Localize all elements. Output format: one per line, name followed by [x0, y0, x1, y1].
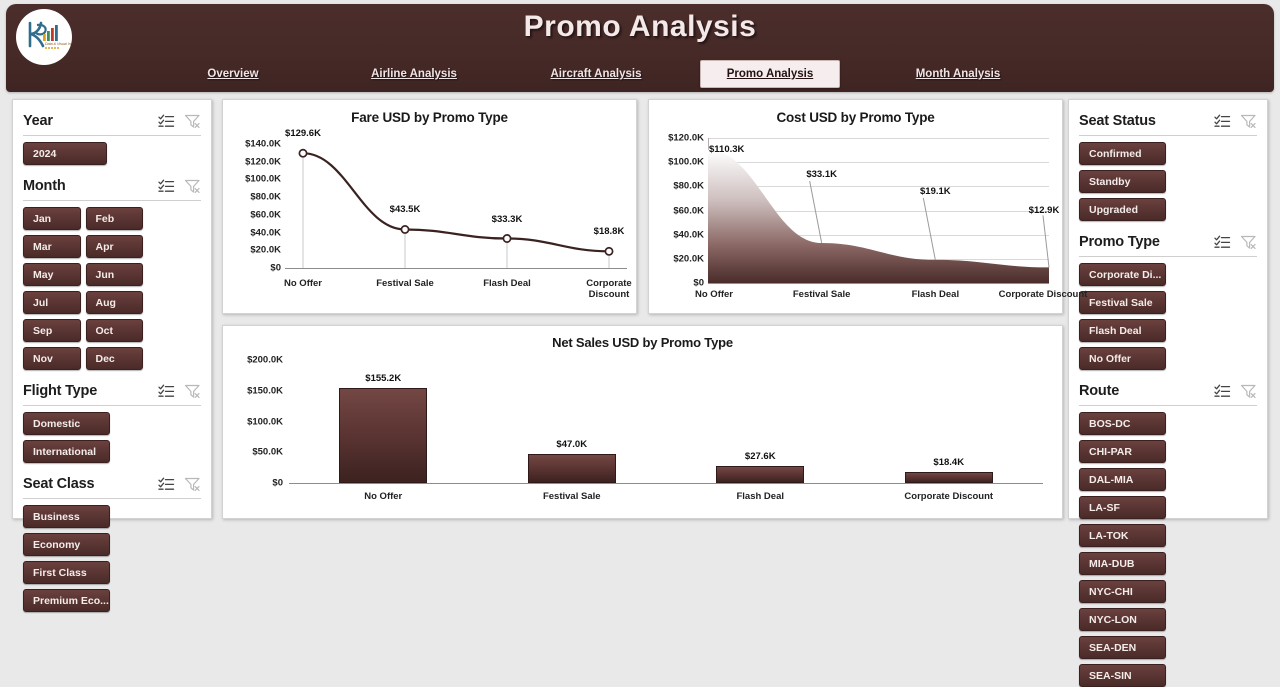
- slicer-icons-promo-type: [1214, 235, 1257, 250]
- x-axis-tick-label: Corporate Discount: [570, 278, 648, 300]
- filter-chip-nov[interactable]: Nov: [23, 347, 81, 370]
- multi-select-icon[interactable]: [158, 384, 175, 399]
- filter-chip-oct[interactable]: Oct: [86, 319, 144, 342]
- slicer-flight-type: Flight Type DomesticInternational: [23, 378, 201, 463]
- data-label: $47.0K: [522, 439, 622, 450]
- slicer-divider: [1079, 405, 1257, 406]
- slicer-icons-year: [158, 114, 201, 129]
- app-header: Data & Visual Insights Promo Analysis Ov…: [6, 4, 1274, 92]
- clear-filter-icon[interactable]: [184, 384, 201, 399]
- x-axis-tick-label: Festival Sale: [366, 278, 444, 289]
- filter-chip-first-class[interactable]: First Class: [23, 561, 110, 584]
- slicer-divider: [23, 200, 201, 201]
- filter-chip-jul[interactable]: Jul: [23, 291, 81, 314]
- clear-filter-icon[interactable]: [184, 179, 201, 194]
- y-axis-tick-label: $150.0K: [247, 385, 283, 396]
- tab-promo-analysis[interactable]: Promo Analysis: [700, 60, 840, 88]
- x-axis-tick-label: No Offer: [264, 278, 342, 289]
- filter-chip-premium-eco[interactable]: Premium Eco...: [23, 589, 110, 612]
- y-axis-tick-label: $0: [272, 478, 283, 489]
- data-label: $43.5K: [371, 204, 439, 215]
- multi-select-icon[interactable]: [158, 477, 175, 492]
- slicer-title-seat-class: Seat Class: [23, 476, 158, 492]
- filter-chip-economy[interactable]: Economy: [23, 533, 110, 556]
- filter-chip-nyc-lon[interactable]: NYC-LON: [1079, 608, 1166, 631]
- tab-overview[interactable]: Overview: [184, 60, 282, 88]
- x-axis-tick-label: Festival Sale: [502, 491, 642, 502]
- filter-chip-chi-par[interactable]: CHI-PAR: [1079, 440, 1166, 463]
- left-filter-panel: Year 2024Month JanFebMarAprMayJunJulAugS…: [12, 99, 212, 519]
- right-filter-panel: Seat Status ConfirmedStandbyUpgradedProm…: [1068, 99, 1268, 519]
- clear-filter-icon[interactable]: [1240, 114, 1257, 129]
- data-label: $18.8K: [575, 226, 643, 237]
- filter-chip-standby[interactable]: Standby: [1079, 170, 1166, 193]
- slicer-title-month: Month: [23, 178, 158, 194]
- slicer-title-seat-status: Seat Status: [1079, 113, 1214, 129]
- clear-filter-icon[interactable]: [184, 477, 201, 492]
- fare-usd-chart-card: Fare USD by Promo Type $0$20.0K$40.0K$60…: [222, 99, 637, 314]
- slicer-icons-seat-class: [158, 477, 201, 492]
- filter-chip-mar[interactable]: Mar: [23, 235, 81, 258]
- filter-chip-nyc-chi[interactable]: NYC-CHI: [1079, 580, 1166, 603]
- slicer-header-seat-status: Seat Status: [1079, 108, 1257, 134]
- slicer-header-route: Route: [1079, 378, 1257, 404]
- tab-aircraft-analysis[interactable]: Aircraft Analysis: [528, 60, 664, 88]
- x-axis-tick-label: Flash Deal: [468, 278, 546, 289]
- slicer-divider: [23, 135, 201, 136]
- slicer-options-seat-status: ConfirmedStandbyUpgraded: [1079, 142, 1257, 221]
- data-label: $155.2K: [333, 373, 433, 384]
- bar-corporate-discount: [905, 472, 993, 483]
- slicer-title-promo-type: Promo Type: [1079, 234, 1214, 250]
- slicer-options-seat-class: BusinessEconomyFirst ClassPremium Eco...: [23, 505, 201, 612]
- data-label: $33.3K: [473, 214, 541, 225]
- data-label: $19.1K: [888, 186, 982, 197]
- slicer-title-year: Year: [23, 113, 158, 129]
- slicer-month: Month JanFebMarAprMayJunJulAugSepOctNovD…: [23, 173, 201, 370]
- filter-chip-feb[interactable]: Feb: [86, 207, 144, 230]
- y-axis-tick-label: $100.0K: [247, 416, 283, 427]
- clear-filter-icon[interactable]: [1240, 384, 1257, 399]
- slicer-divider: [23, 498, 201, 499]
- bar-no-offer: [339, 388, 427, 483]
- bar-flash-deal: [716, 466, 804, 483]
- multi-select-icon[interactable]: [158, 114, 175, 129]
- filter-chip-flash-deal[interactable]: Flash Deal: [1079, 319, 1166, 342]
- x-axis-tick-label: Corporate Discount: [991, 289, 1095, 300]
- slicer-icons-route: [1214, 384, 1257, 399]
- filter-chip-sep[interactable]: Sep: [23, 319, 81, 342]
- slicer-options-promo-type: Corporate Di...Festival SaleFlash DealNo…: [1079, 263, 1257, 370]
- filter-chip-upgraded[interactable]: Upgraded: [1079, 198, 1166, 221]
- cost-usd-chart-card: Cost USD by Promo Type $0$20.0K$40.0K$60…: [648, 99, 1063, 314]
- slicer-header-year: Year: [23, 108, 201, 134]
- data-label: $33.1K: [775, 169, 869, 180]
- x-axis-tick-label: No Offer: [662, 289, 766, 300]
- y-axis-tick-label: $50.0K: [252, 447, 283, 458]
- main-navigation: Overview Airline Analysis Aircraft Analy…: [6, 60, 1274, 90]
- filter-chip-dal-mia[interactable]: DAL-MIA: [1079, 468, 1166, 491]
- filter-chip-la-sf[interactable]: LA-SF: [1079, 496, 1166, 519]
- filter-chip-no-offer[interactable]: No Offer: [1079, 347, 1166, 370]
- filter-chip-aug[interactable]: Aug: [86, 291, 144, 314]
- slicer-promo-type: Promo Type Corporate Di...Festival SaleF…: [1079, 229, 1257, 370]
- slicer-title-route: Route: [1079, 383, 1214, 399]
- tab-month-analysis[interactable]: Month Analysis: [890, 60, 1026, 88]
- filter-chip-sea-den[interactable]: SEA-DEN: [1079, 636, 1166, 659]
- clear-filter-icon[interactable]: [1240, 235, 1257, 250]
- x-axis-tick-label: Corporate Discount: [879, 491, 1019, 502]
- filter-chip-bos-dc[interactable]: BOS-DC: [1079, 412, 1166, 435]
- filter-chip-confirmed[interactable]: Confirmed: [1079, 142, 1166, 165]
- filter-chip-2024[interactable]: 2024: [23, 142, 107, 165]
- slicer-title-flight-type: Flight Type: [23, 383, 158, 399]
- slicer-header-month: Month: [23, 173, 201, 199]
- x-axis-tick-label: Flash Deal: [883, 289, 987, 300]
- x-axis-tick-label: Flash Deal: [690, 491, 830, 502]
- page-title: Promo Analysis: [6, 10, 1274, 44]
- slicer-options-year: 2024: [23, 142, 201, 165]
- data-label: $110.3K: [709, 144, 803, 155]
- filter-chip-apr[interactable]: Apr: [86, 235, 144, 258]
- data-label: $18.4K: [899, 457, 999, 468]
- filter-chip-corporate-di[interactable]: Corporate Di...: [1079, 263, 1166, 286]
- filter-chip-business[interactable]: Business: [23, 505, 110, 528]
- filter-chip-jun[interactable]: Jun: [86, 263, 144, 286]
- filter-chip-dec[interactable]: Dec: [86, 347, 144, 370]
- filter-chip-domestic[interactable]: Domestic: [23, 412, 110, 435]
- tab-airline-analysis[interactable]: Airline Analysis: [346, 60, 482, 88]
- y-axis-tick-label: $200.0K: [247, 355, 283, 366]
- multi-select-icon[interactable]: [1214, 235, 1231, 250]
- slicer-year: Year 2024: [23, 108, 201, 165]
- data-label: $27.6K: [710, 451, 810, 462]
- data-label: $12.9K: [997, 205, 1091, 216]
- slicer-divider: [1079, 135, 1257, 136]
- slicer-divider: [23, 405, 201, 406]
- filter-chip-la-tok[interactable]: LA-TOK: [1079, 524, 1166, 547]
- slicer-divider: [1079, 256, 1257, 257]
- multi-select-icon[interactable]: [1214, 384, 1231, 399]
- net-sales-chart-card: Net Sales USD by Promo Type $0$50.0K$100…: [222, 325, 1063, 519]
- slicer-icons-month: [158, 179, 201, 194]
- slicer-seat-class: Seat Class BusinessEconomyFirst ClassPre…: [23, 471, 201, 612]
- bar-festival-sale: [528, 454, 616, 483]
- slicer-header-flight-type: Flight Type: [23, 378, 201, 404]
- filter-chip-jan[interactable]: Jan: [23, 207, 81, 230]
- multi-select-icon[interactable]: [1214, 114, 1231, 129]
- x-axis-line: [289, 483, 1043, 484]
- multi-select-icon[interactable]: [158, 179, 175, 194]
- slicer-header-seat-class: Seat Class: [23, 471, 201, 497]
- data-label: $129.6K: [269, 128, 337, 139]
- x-axis-tick-label: No Offer: [313, 491, 453, 502]
- slicer-route: Route BOS-DCCHI-PARDAL-MIALA-SFLA-TOKMIA…: [1079, 378, 1257, 687]
- x-axis-tick-label: Festival Sale: [770, 289, 874, 300]
- filter-chip-sea-sin[interactable]: SEA-SIN: [1079, 664, 1166, 687]
- filter-chip-mia-dub[interactable]: MIA-DUB: [1079, 552, 1166, 575]
- slicer-icons-flight-type: [158, 384, 201, 399]
- clear-filter-icon[interactable]: [184, 114, 201, 129]
- filter-chip-may[interactable]: May: [23, 263, 81, 286]
- slicer-seat-status: Seat Status ConfirmedStandbyUpgraded: [1079, 108, 1257, 221]
- filter-chip-international[interactable]: International: [23, 440, 110, 463]
- slicer-options-month: JanFebMarAprMayJunJulAugSepOctNovDec: [23, 207, 201, 370]
- slicer-options-flight-type: DomesticInternational: [23, 412, 201, 463]
- slicer-header-promo-type: Promo Type: [1079, 229, 1257, 255]
- slicer-options-route: BOS-DCCHI-PARDAL-MIALA-SFLA-TOKMIA-DUBNY…: [1079, 412, 1257, 687]
- slicer-icons-seat-status: [1214, 114, 1257, 129]
